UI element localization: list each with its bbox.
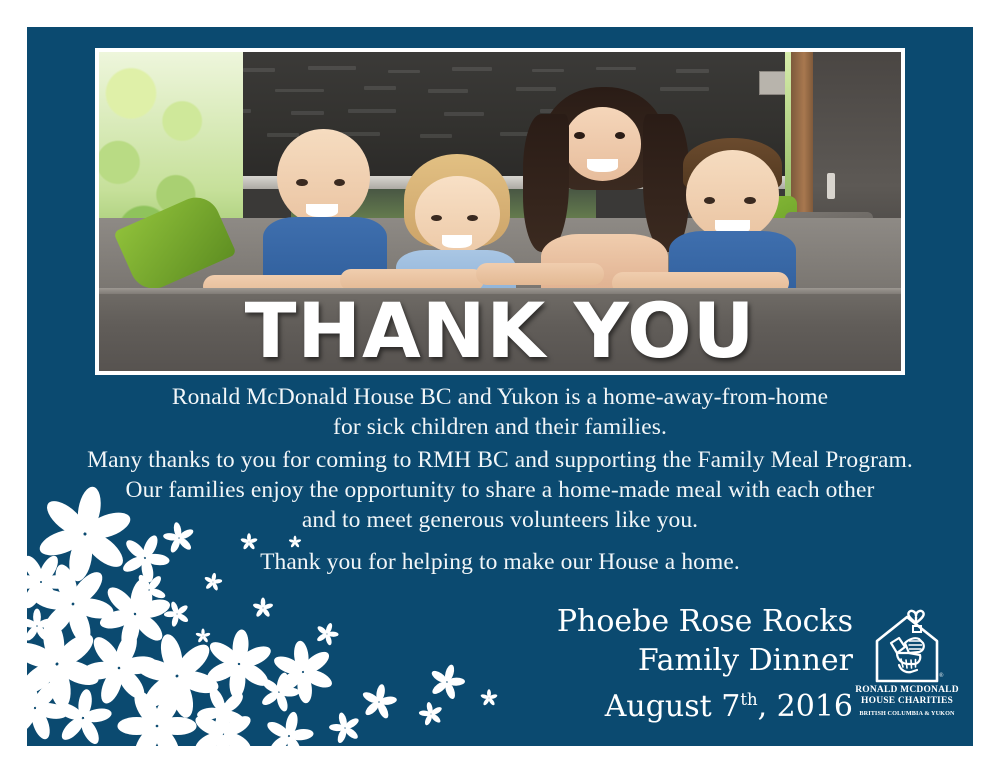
event-date-ordinal: th — [740, 690, 757, 709]
svg-text:®: ® — [939, 672, 944, 679]
logo-name-line-2: HOUSE CHARITIES — [861, 696, 953, 706]
message-paragraph-3: Thank you for helping to make our House … — [27, 547, 973, 577]
event-details: Phoebe Rose Rocks Family Dinner August 7… — [433, 602, 853, 726]
message-paragraph-1: Ronald McDonald House BC and Yukon is a … — [27, 382, 973, 442]
logo-region: BRITISH COLUMBIA & YUKON — [853, 711, 961, 718]
event-date-main: August 7 — [605, 689, 741, 724]
house-with-heart-and-hands-icon: ® — [853, 607, 961, 687]
photo-arm-3 — [476, 263, 604, 285]
logo-name-line-1: RONALD MCDONALD — [855, 685, 959, 695]
event-date-rest: , 2016 — [758, 689, 853, 724]
photo-frame: THANK YOU — [95, 48, 905, 375]
event-date: August 7th, 2016 — [433, 680, 853, 726]
message-paragraph-2: Many thanks to you for coming to RMH BC … — [27, 445, 973, 535]
event-line-1: Phoebe Rose Rocks — [433, 602, 853, 641]
logo-name: RONALD MCDONALD HOUSE CHARITIES — [853, 685, 961, 706]
event-line-2: Family Dinner — [433, 641, 853, 680]
photo-door-handle — [827, 173, 835, 199]
family-photo: THANK YOU — [99, 52, 901, 371]
thank-you-card: THANK YOU Ronald McDonald House BC and Y… — [27, 27, 973, 746]
thank-you-headline: THANK YOU — [99, 293, 901, 369]
rmhc-logo: ® RONALD MCDONALD HOUSE CHARITIES BRITIS… — [853, 607, 961, 729]
